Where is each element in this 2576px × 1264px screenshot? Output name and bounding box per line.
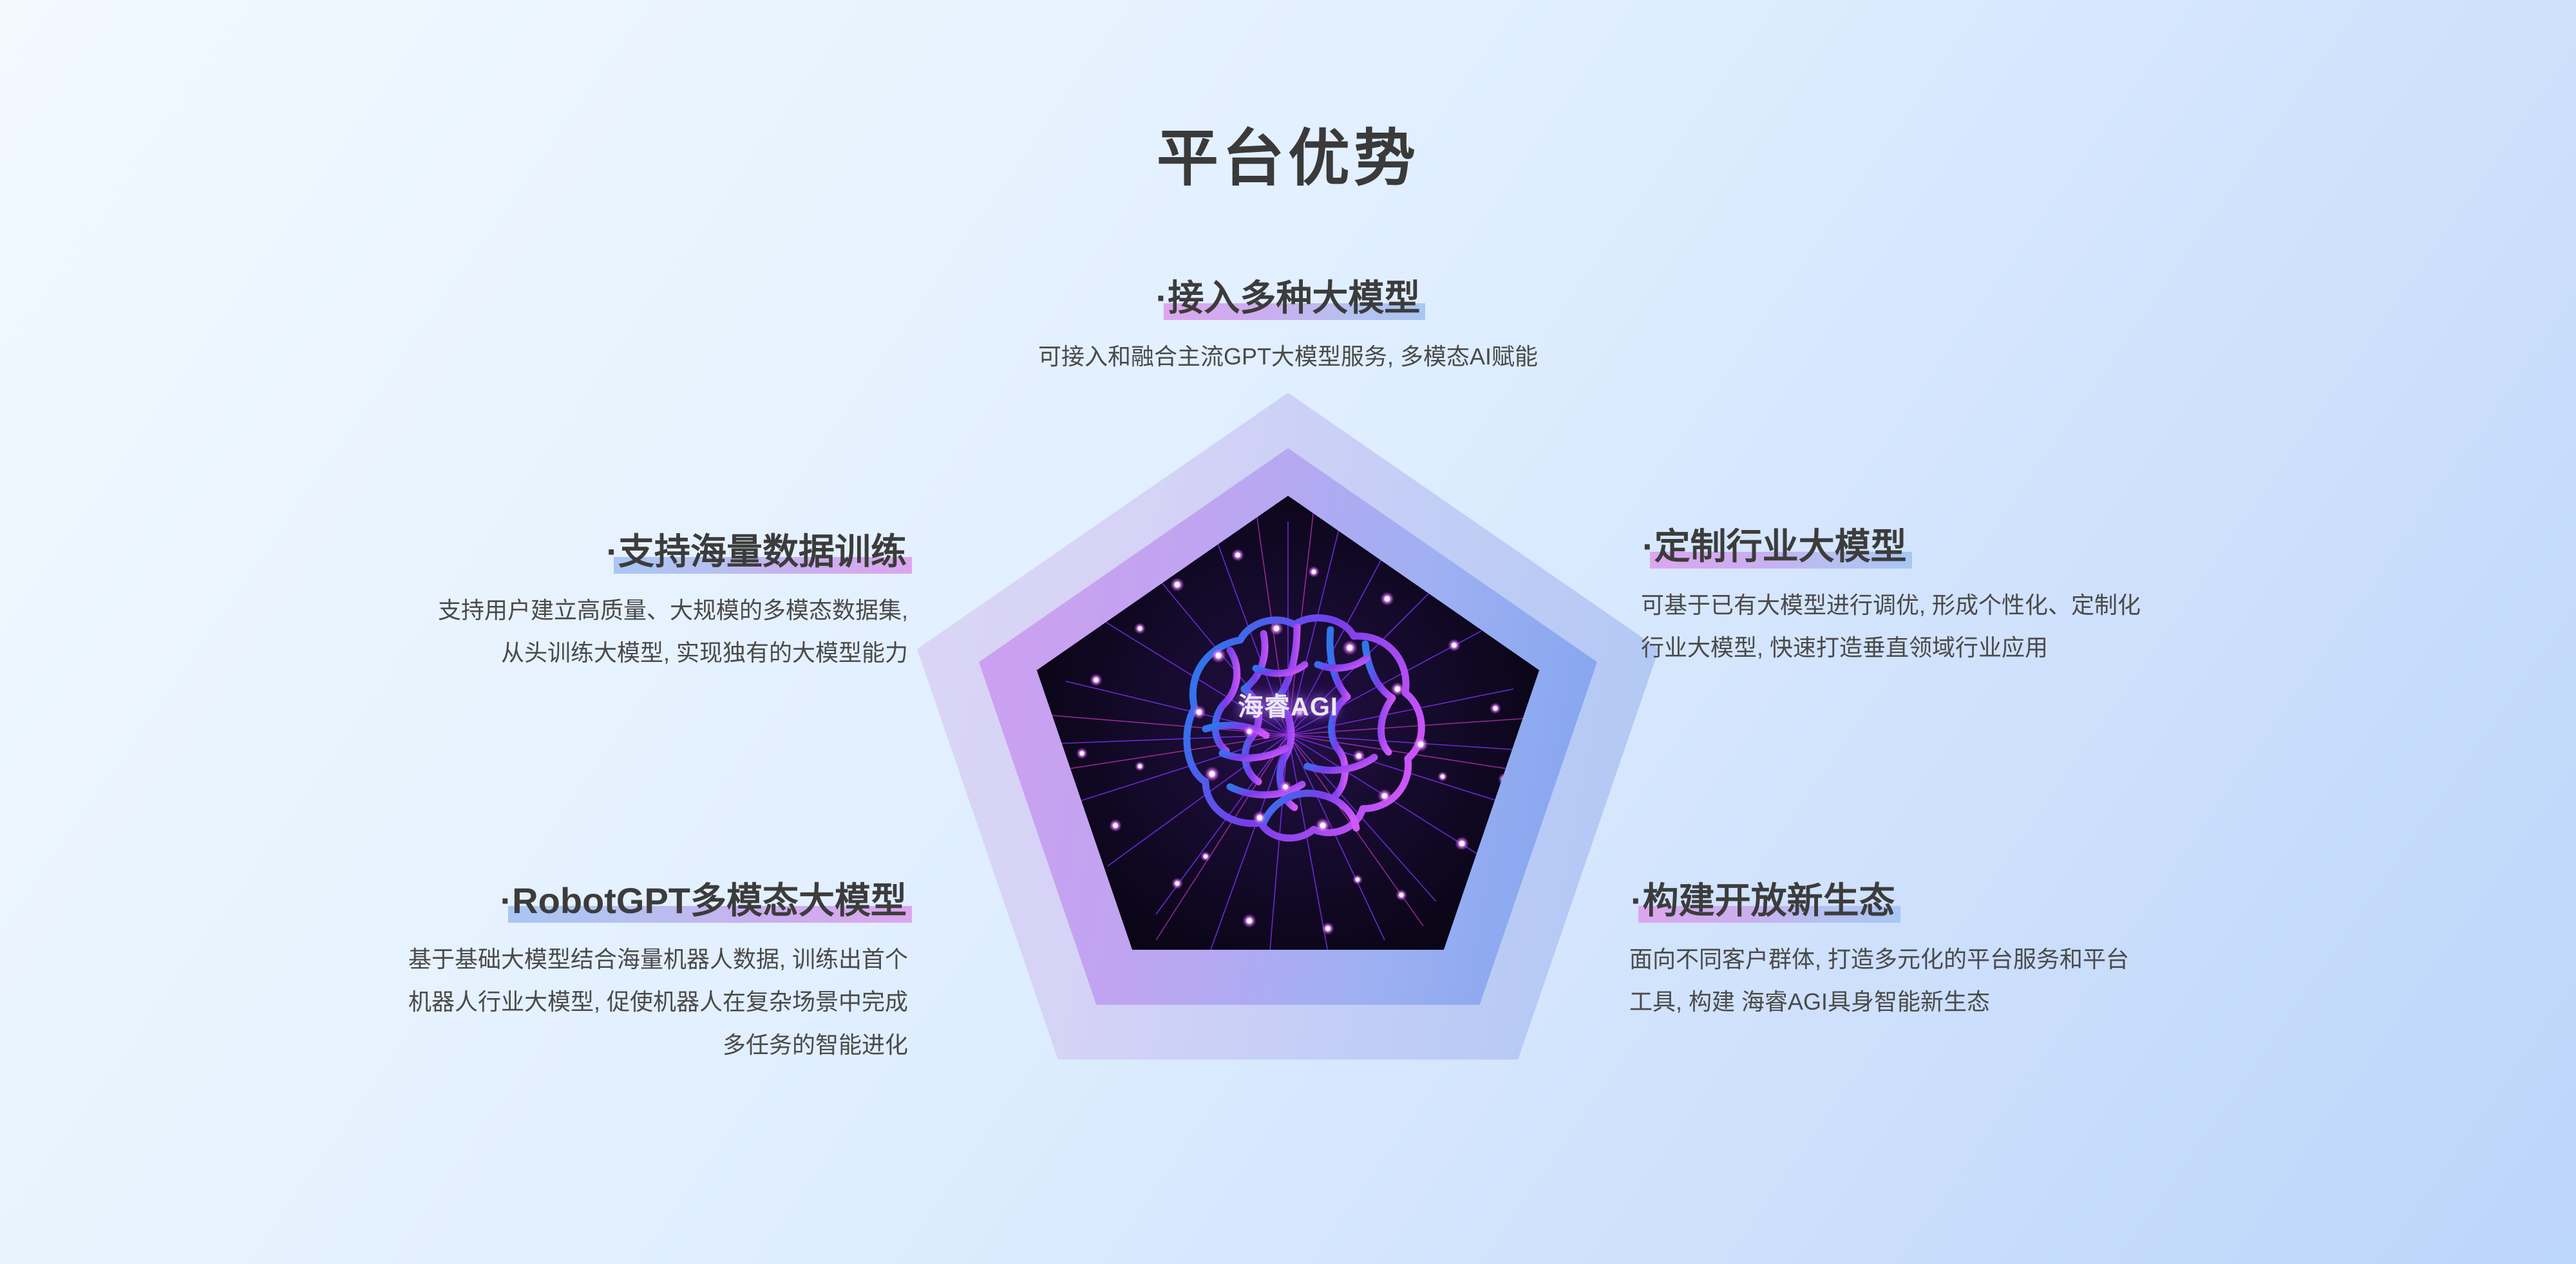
feature-right-top-desc: 可基于已有大模型进行调优, 形成个性化、定制化 行业大模型, 快速打造垂直领域行… (1641, 584, 2491, 670)
feature-left-bottom-heading-text: RobotGPT多模态大模型 (512, 880, 907, 921)
feature-right-bottom-heading-text: 构建开放新生态 (1643, 880, 1895, 921)
bullet-dot: · (1631, 880, 1643, 921)
feature-left-bottom-desc: 基于基础大模型结合海量机器人数据, 训练出首个 机器人行业大模型, 促使机器人在… (71, 938, 908, 1067)
desc-line: 从头训练大模型, 实现独有的大模型能力 (71, 632, 908, 675)
desc-line: 支持用户建立高质量、大规模的多模态数据集, (71, 589, 908, 632)
feature-right-bottom: ·构建开放新生态 面向不同客户群体, 打造多元化的平台服务和平台 工具, 构建 … (1629, 881, 2486, 1024)
feature-right-top-heading-text: 定制行业大模型 (1654, 526, 1907, 567)
feature-top: ·接入多种大模型 可接入和融合主流GPT大模型服务, 多模态AI赋能 (741, 278, 1835, 378)
feature-top-heading: ·接入多种大模型 (1155, 278, 1422, 323)
desc-line: 面向不同客户群体, 打造多元化的平台服务和平台 (1629, 938, 2486, 981)
feature-right-bottom-desc: 面向不同客户群体, 打造多元化的平台服务和平台 工具, 构建 海睿AGI具身智能… (1629, 938, 2486, 1024)
feature-top-heading-text: 接入多种大模型 (1168, 278, 1420, 318)
feature-left-top-desc: 支持用户建立高质量、大规模的多模态数据集, 从头训练大模型, 实现独有的大模型能… (71, 589, 908, 675)
feature-right-bottom-heading: ·构建开放新生态 (1629, 881, 1897, 925)
brand-label: 海睿AGI (917, 686, 1659, 723)
page-title: 平台优势 (0, 108, 2576, 198)
feature-left-bottom-heading: ·RobotGPT多模态大模型 (499, 881, 908, 925)
desc-line: 工具, 构建 海睿AGI具身智能新生态 (1629, 981, 2486, 1024)
bullet-dot: · (500, 880, 513, 921)
feature-left-top: ·支持海量数据训练 支持用户建立高质量、大规模的多模态数据集, 从头训练大模型,… (71, 532, 908, 675)
desc-line: 基于基础大模型结合海量机器人数据, 训练出首个 (71, 938, 908, 981)
feature-left-bottom: ·RobotGPT多模态大模型 基于基础大模型结合海量机器人数据, 训练出首个 … (71, 881, 908, 1067)
slide-canvas: 平台优势 (0, 0, 2576, 1264)
feature-top-desc: 可接入和融合主流GPT大模型服务, 多模态AI赋能 (741, 335, 1835, 379)
desc-line: 机器人行业大模型, 促使机器人在复杂场景中完成 (71, 981, 908, 1024)
feature-right-top: ·定制行业大模型 可基于已有大模型进行调优, 形成个性化、定制化 行业大模型, … (1641, 527, 2491, 670)
desc-line: 可基于已有大模型进行调优, 形成个性化、定制化 (1641, 584, 2491, 627)
desc-line: 行业大模型, 快速打造垂直领域行业应用 (1641, 627, 2491, 670)
desc-line: 多任务的智能进化 (71, 1024, 908, 1067)
center-graphic: 海睿AGI (917, 393, 1659, 1095)
desc-line: 可接入和融合主流GPT大模型服务, 多模态AI赋能 (741, 335, 1835, 379)
feature-left-top-heading: ·支持海量数据训练 (605, 532, 908, 576)
bullet-dot: · (606, 531, 618, 572)
bullet-dot: · (1642, 526, 1654, 567)
feature-left-top-heading-text: 支持海量数据训练 (618, 531, 907, 572)
bullet-dot: · (1156, 278, 1168, 318)
feature-right-top-heading: ·定制行业大模型 (1641, 527, 1908, 571)
